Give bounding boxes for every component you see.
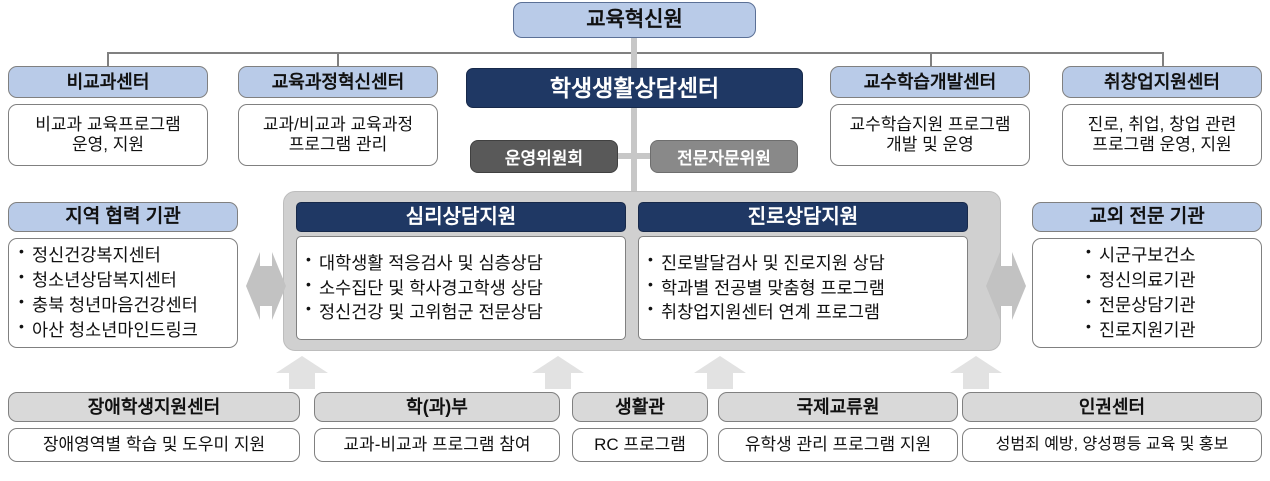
list-item: 학과별 전공별 맞춤형 프로그램 [647, 276, 885, 301]
support-title-psychological: 심리상담지원 [406, 207, 516, 228]
support-body-psychological: 대학생활 적응검사 및 심층상담 소수집단 및 학사경고학생 상담 정신건강 및… [296, 236, 626, 340]
support-body-career: 진로발달검사 및 진로지원 상담 학과별 전공별 맞춤형 프로그램 취창업지원센… [638, 236, 968, 340]
list-item: 취창업지원센터 연계 프로그램 [647, 300, 885, 325]
connector-drop-2 [337, 52, 339, 66]
panel-header-external-specialists: 교외 전문 기관 [1032, 202, 1262, 232]
list-item: 정신의료기관 [1085, 268, 1196, 293]
support-list-career: 진로발달검사 및 진로지원 상담 학과별 전공별 맞춤형 프로그램 취창업지원센… [647, 251, 885, 326]
center-box-body-teaching-learning: 교수학습지원 프로그램 개발 및 운영 [830, 104, 1030, 166]
committee-box-steering: 운영위원회 [470, 140, 618, 173]
arrow-right-bidirectional-icon [986, 232, 1026, 340]
list-item: 시군구보건소 [1085, 243, 1196, 268]
center-title-curriculum-innovation: 교육과정혁신센터 [272, 73, 404, 92]
list-item: 전문상담기관 [1085, 293, 1196, 318]
connector-drop-5 [1162, 52, 1164, 66]
bottom-body-dormitory: RC 프로그램 [572, 428, 708, 462]
list-item: 소수집단 및 학사경고학생 상담 [305, 276, 543, 301]
center-box-body-extracurricular: 비교과 교육프로그램 운영, 지원 [8, 104, 208, 166]
bottom-desc-human-rights: 성범죄 예방, 양성평등 교육 및 홍보 [996, 436, 1229, 455]
bottom-body-international-exchange: 유학생 관리 프로그램 지원 [718, 428, 958, 462]
arrow-up-icon-4 [950, 356, 1002, 389]
connector-root-stem [631, 38, 637, 53]
bottom-desc-dormitory: RC 프로그램 [594, 435, 686, 455]
panel-list-external-specialists: 시군구보건소 정신의료기관 전문상담기관 진로지원기관 [1085, 243, 1196, 342]
committee-box-advisory: 전문자문위원 [650, 140, 798, 173]
list-item: 대학생활 적응검사 및 심층상담 [305, 251, 543, 276]
center-box-body-career-startup: 진로, 취업, 창업 관련 프로그램 운영, 지원 [1062, 104, 1262, 166]
main-node-student-counseling-center: 학생생활상담센터 [466, 68, 803, 108]
arrow-up-icon-1 [276, 356, 328, 389]
center-box-header-teaching-learning: 교수학습개발센터 [830, 66, 1030, 98]
connector-drop-4 [930, 52, 932, 66]
bottom-header-disabled-student-support: 장애학생지원센터 [8, 392, 300, 422]
list-item: 아산 청소년마인드링크 [18, 318, 198, 343]
main-node-label: 학생생활상담센터 [550, 76, 719, 100]
bottom-title-international-exchange: 국제교류원 [797, 398, 880, 417]
list-item: 정신건강 및 고위험군 전문상담 [305, 300, 543, 325]
committee-label-steering: 운영위원회 [505, 144, 583, 169]
panel-body-regional-partners: 정신건강복지센터 청소년상담복지센터 충북 청년마음건강센터 아산 청소년마인드… [8, 238, 238, 348]
bottom-header-department: 학(과)부 [314, 392, 560, 422]
bottom-title-department: 학(과)부 [406, 398, 468, 417]
arrow-up-icon-2 [532, 356, 584, 389]
center-title-extracurricular: 비교과센터 [67, 73, 150, 92]
support-header-psychological: 심리상담지원 [296, 202, 626, 232]
list-item: 진로지원기관 [1085, 318, 1196, 343]
center-box-header-curriculum-innovation: 교육과정혁신센터 [238, 66, 438, 98]
arrow-left-bidirectional-icon [246, 232, 286, 340]
arrow-up-icon-3 [694, 356, 746, 389]
bottom-body-human-rights: 성범죄 예방, 양성평등 교육 및 홍보 [962, 428, 1262, 462]
connector-drop-center [631, 52, 637, 68]
bottom-header-international-exchange: 국제교류원 [718, 392, 958, 422]
bottom-body-department: 교과-비교과 프로그램 참여 [314, 428, 560, 462]
connector-center-spine [631, 108, 637, 192]
panel-title-regional-partners: 지역 협력 기관 [65, 207, 180, 227]
bottom-body-disabled-student-support: 장애영역별 학습 및 도우미 지원 [8, 428, 300, 462]
list-item: 청소년상담복지센터 [18, 268, 198, 293]
center-box-header-extracurricular: 비교과센터 [8, 66, 208, 98]
center-desc-teaching-learning: 교수학습지원 프로그램 개발 및 운영 [849, 115, 1010, 155]
root-node-education-innovation-institute: 교육혁신원 [513, 2, 756, 38]
list-item: 정신건강복지센터 [18, 243, 198, 268]
connector-drop-1 [107, 52, 109, 66]
panel-title-external-specialists: 교외 전문 기관 [1089, 207, 1204, 227]
bottom-title-human-rights: 인권센터 [1079, 398, 1145, 417]
support-header-career: 진로상담지원 [638, 202, 968, 232]
list-item: 진로발달검사 및 진로지원 상담 [647, 251, 885, 276]
center-box-header-career-startup: 취창업지원센터 [1062, 66, 1262, 98]
bottom-desc-international-exchange: 유학생 관리 프로그램 지원 [745, 435, 931, 455]
center-desc-curriculum-innovation: 교과/비교과 교육과정 프로그램 관리 [263, 115, 413, 155]
bottom-desc-department: 교과-비교과 프로그램 참여 [343, 435, 530, 455]
bottom-title-dormitory: 생활관 [615, 398, 665, 417]
bottom-header-dormitory: 생활관 [572, 392, 708, 422]
committee-label-advisory: 전문자문위원 [677, 144, 771, 169]
panel-list-regional-partners: 정신건강복지센터 청소년상담복지센터 충북 청년마음건강센터 아산 청소년마인드… [18, 243, 198, 342]
center-title-teaching-learning: 교수학습개발센터 [864, 73, 996, 92]
support-list-psychological: 대학생활 적응검사 및 심층상담 소수집단 및 학사경고학생 상담 정신건강 및… [305, 251, 543, 326]
center-desc-extracurricular: 비교과 교육프로그램 운영, 지원 [35, 115, 180, 155]
panel-header-regional-partners: 지역 협력 기관 [8, 202, 238, 232]
list-item: 충북 청년마음건강센터 [18, 293, 198, 318]
bottom-desc-disabled-student-support: 장애영역별 학습 및 도우미 지원 [43, 435, 265, 455]
center-desc-career-startup: 진로, 취업, 창업 관련 프로그램 운영, 지원 [1088, 115, 1237, 155]
bottom-header-human-rights: 인권센터 [962, 392, 1262, 422]
center-box-body-curriculum-innovation: 교과/비교과 교육과정 프로그램 관리 [238, 104, 438, 166]
panel-body-external-specialists: 시군구보건소 정신의료기관 전문상담기관 진로지원기관 [1032, 238, 1262, 348]
org-chart-diagram: 교육혁신원 비교과센터 비교과 교육프로그램 운영, 지원 교육과정혁신센터 교… [0, 0, 1270, 481]
center-title-career-startup: 취창업지원센터 [1104, 73, 1220, 92]
support-title-career: 진로상담지원 [748, 207, 858, 228]
root-node-label: 교육혁신원 [586, 9, 683, 31]
bottom-title-disabled-student-support: 장애학생지원센터 [88, 398, 220, 417]
